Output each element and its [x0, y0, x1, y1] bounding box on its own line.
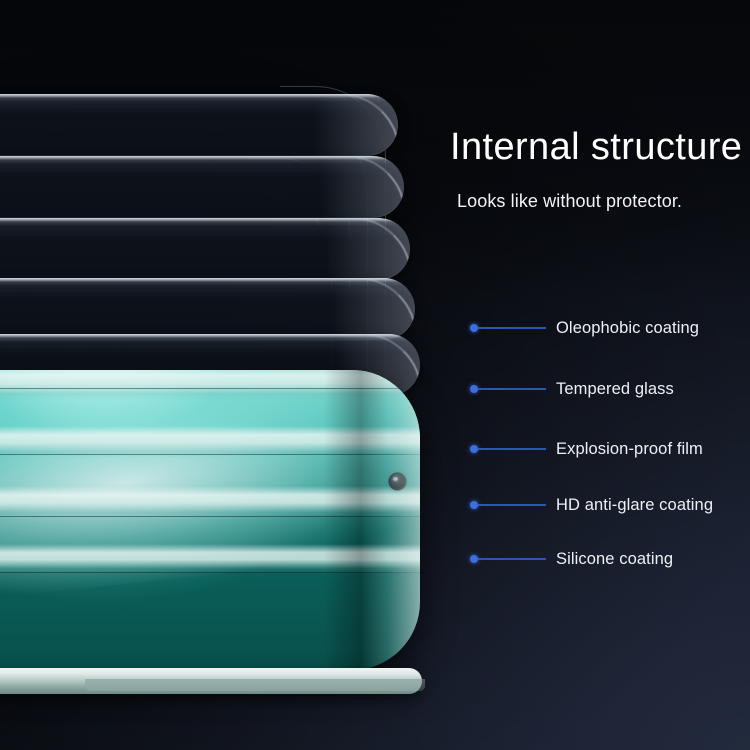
- callout-label: Silicone coating: [556, 550, 673, 569]
- protector-layer-oleophobic: [0, 94, 398, 156]
- bullet-dot-icon: [470, 445, 478, 453]
- callout-row: Explosion-proof film: [470, 438, 703, 460]
- product-image-canvas: Internal structure Looks like without pr…: [0, 0, 750, 750]
- callout-label: Oleophobic coating: [556, 319, 699, 338]
- callout-leader-line: [478, 504, 546, 506]
- protector-layer-explosion-proof: [0, 218, 410, 280]
- front-camera-icon: [390, 474, 405, 489]
- callout-row: HD anti-glare coating: [470, 494, 713, 516]
- callout-leader-line: [478, 558, 546, 560]
- callout-leader-line: [478, 327, 546, 329]
- device-bottom-frame: [0, 668, 422, 694]
- callout-leader-line: [478, 448, 546, 450]
- port-notch: [85, 679, 425, 691]
- layer-edge-highlight: [314, 94, 398, 156]
- layer-hairline: [0, 454, 420, 455]
- bullet-dot-icon: [470, 385, 478, 393]
- page-title: Internal structure: [450, 126, 742, 169]
- layer-hairline: [0, 572, 420, 573]
- callout-leader-line: [478, 388, 546, 390]
- layer-edge-highlight: [320, 156, 404, 218]
- callout-row: Oleophobic coating: [470, 317, 699, 339]
- camera-glint: [393, 477, 398, 481]
- layer-hairline: [0, 516, 420, 517]
- protector-layer-tempered-glass: [0, 156, 404, 218]
- smartphone-device: [0, 370, 420, 670]
- protector-layer-hd-anti-glare: [0, 278, 415, 340]
- screen-specular-highlight: [0, 370, 420, 639]
- bullet-dot-icon: [470, 324, 478, 332]
- layer-edge-highlight: [331, 278, 415, 340]
- callout-row: Silicone coating: [470, 548, 673, 570]
- bullet-dot-icon: [470, 555, 478, 563]
- layer-hairline: [0, 388, 420, 389]
- bullet-dot-icon: [470, 501, 478, 509]
- layer-edge-highlight: [326, 218, 410, 280]
- callout-label: Explosion-proof film: [556, 440, 703, 459]
- callout-label: HD anti-glare coating: [556, 496, 713, 515]
- callout-label: Tempered glass: [556, 380, 674, 399]
- phone-layer-stack: [0, 60, 450, 700]
- callout-row: Tempered glass: [470, 378, 674, 400]
- page-subtitle: Looks like without protector.: [457, 191, 682, 212]
- phone-screen: [0, 370, 420, 670]
